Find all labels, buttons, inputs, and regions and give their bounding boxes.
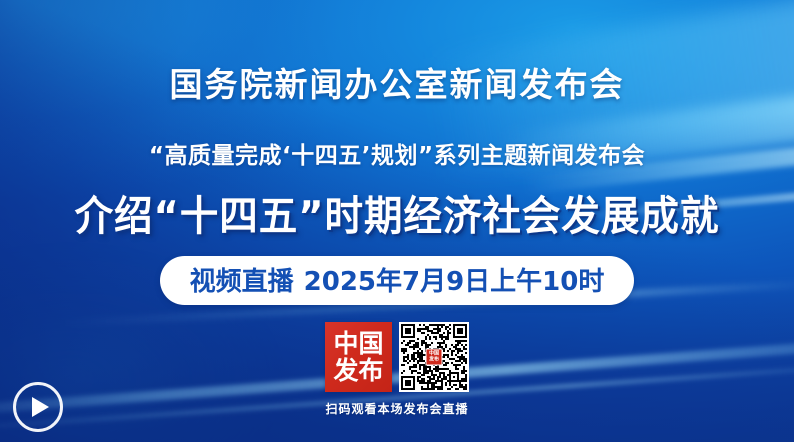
press-conference-poster: 国务院新闻办公室新闻发布会 “高质量完成‘十四五’规划”系列主题新闻发布会 介绍… [0,0,794,442]
play-button[interactable] [13,382,63,432]
logo-line-1: 中国 [333,331,383,357]
page-title: 国务院新闻办公室新闻发布会 [170,58,625,106]
qr-center-line-2: 发布 [429,357,439,362]
qr-code[interactable]: 中国 发布 [399,322,469,392]
china-release-logo: 中国 发布 [325,322,392,392]
live-broadcast-badge: 视频直播 2025年7月9日上午10时 [160,256,635,305]
scan-instruction-caption: 扫码观看本场发布会直播 [325,400,468,417]
headline: 介绍“十四五”时期经济社会发展成就 [75,182,720,242]
brand-and-qr-row: 中国 发布 中国 发布 [325,322,469,392]
poster-content: 国务院新闻办公室新闻发布会 “高质量完成‘十四五’规划”系列主题新闻发布会 介绍… [0,0,794,442]
series-subtitle: “高质量完成‘十四五’规划”系列主题新闻发布会 [149,136,645,170]
logo-line-2: 发布 [333,358,383,384]
live-badge-label: 视频直播 [190,261,294,298]
qr-center-logo: 中国 发布 [426,349,443,366]
play-icon [32,397,49,417]
live-badge-datetime: 2025年7月9日上午10时 [304,261,605,298]
